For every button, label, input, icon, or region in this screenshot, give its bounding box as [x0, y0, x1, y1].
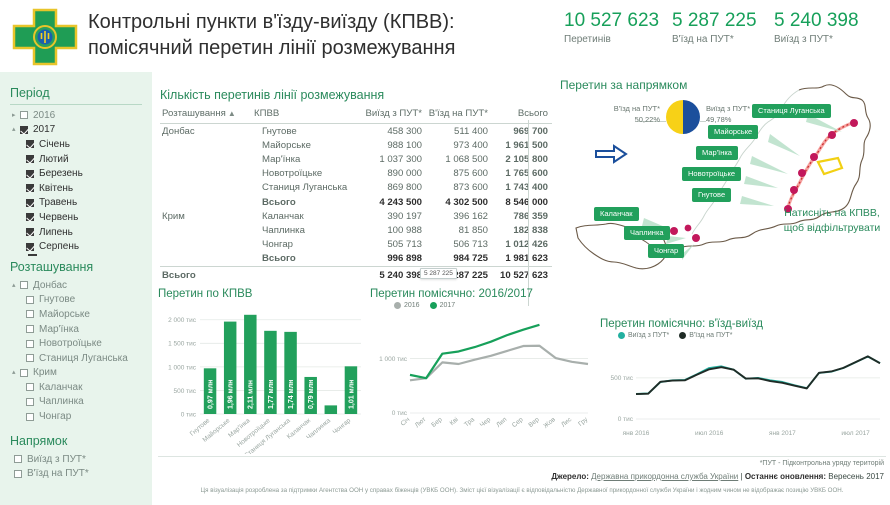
line-series-В'їзд на ПУТ*[interactable]	[636, 356, 880, 394]
table-row[interactable]: Чаплинка100 98881 850182 838	[160, 223, 552, 237]
filter-item-period-6[interactable]: Травень	[10, 196, 142, 211]
chart-title: Перетин по КПВВ	[158, 288, 363, 300]
expand-caret-icon[interactable]: ▸	[12, 112, 20, 119]
blue-arrow-icon	[594, 144, 628, 164]
table-grand-total-row: Всього5 240 3985 287 22510 527 623	[160, 266, 552, 282]
filter-item-label: Новотроїцьке	[39, 338, 102, 349]
filter-item-label: Гнутове	[39, 294, 75, 305]
cell-exit: 4 243 500	[360, 195, 426, 209]
checkbox[interactable]	[20, 126, 28, 134]
filter-item-period-7[interactable]: Червень	[10, 210, 142, 225]
cell-entry: 506 713	[426, 238, 492, 252]
dashboard-root: Контрольні пункти в'їзду-виїзду (КПВВ): …	[0, 0, 890, 505]
filter-item-location-7[interactable]: Каланчак	[10, 380, 142, 395]
table-title: Кількість перетинів лінії розмежування	[160, 88, 552, 102]
table-row[interactable]: Майорське988 100973 4001 961 500	[160, 138, 552, 152]
period-list-truncated-indicator	[28, 254, 37, 256]
filter-item-location-0[interactable]: ▴Донбас	[10, 278, 142, 293]
footer-disclaimer: Ця візуалізація розроблена за підтримки …	[160, 487, 884, 494]
checkbox[interactable]	[26, 325, 34, 333]
filter-item-label: Березень	[39, 168, 83, 179]
pie-label-entry: В'їзд на ПУТ* 50,22%	[572, 103, 660, 125]
bar-data-label: 1,77 млн	[268, 380, 275, 409]
checkbox[interactable]	[20, 369, 28, 377]
checkbox[interactable]	[20, 111, 28, 119]
filter-item-label: Чаплинка	[39, 396, 84, 407]
filter-item-label: 2017	[33, 124, 55, 135]
line1-x-tick: Кві	[448, 415, 460, 427]
bar-y-tick: 2 000 тис	[168, 317, 197, 324]
filter-item-period-3[interactable]: Лютий	[10, 152, 142, 167]
line1-x-tick: Бер	[430, 416, 444, 429]
cell-kpvv: Новотроїцьке	[252, 167, 360, 181]
legend-item-exit[interactable]: Виїзд з ПУТ*	[618, 332, 669, 339]
legend-item-2017[interactable]: 2017	[430, 302, 456, 309]
line-series-Виїзд з ПУТ*[interactable]	[636, 357, 880, 394]
checkbox[interactable]	[14, 470, 22, 478]
column-header-total[interactable]: Всього	[492, 106, 552, 124]
filter-heading-location: Розташування	[10, 260, 142, 275]
cell-total: 969 700	[492, 124, 552, 139]
bar-data-label: 1,74 млн	[288, 380, 295, 409]
legend-item-entry[interactable]: В'їзд на ПУТ*	[679, 332, 732, 339]
line-chart-canvas[interactable]: 0 тис1 000 тисСічЛютБерКвіТраЧерЛипСерВе…	[370, 309, 592, 449]
cell-total: 1 012 426	[492, 238, 552, 252]
chart-legend: 2016 2017	[394, 302, 592, 309]
legend-label: 2016	[404, 302, 420, 309]
expand-caret-icon[interactable]: ▴	[12, 369, 20, 376]
filter-item-label: Липень	[39, 227, 73, 238]
cell-exit: 458 300	[360, 124, 426, 139]
column-header-exit[interactable]: Виїзд з ПУТ*	[360, 106, 426, 124]
footer-source-line: Джерело: Державна прикордонна служба Укр…	[551, 472, 884, 481]
checkbox[interactable]	[26, 296, 34, 304]
line-series-2017[interactable]	[410, 325, 539, 378]
kpi-value: 10 527 623	[564, 10, 659, 32]
cell-total: 182 838	[492, 223, 552, 237]
bar[interactable]	[325, 405, 337, 414]
checkbox[interactable]	[14, 455, 22, 463]
table-row[interactable]: КримКаланчак390 197396 162786 359	[160, 209, 552, 223]
filter-item-label: Мар'їнка	[39, 324, 79, 335]
cell-kpvv: Станиця Луганська	[252, 181, 360, 195]
kpi-entry-to-gct: 5 287 225 В'їзд на ПУТ*	[672, 10, 757, 45]
line1-x-tick: Тра	[463, 416, 476, 429]
cell-exit: 100 988	[360, 223, 426, 237]
filter-item-label: Чонгар	[39, 411, 71, 422]
cell-location: Донбас	[160, 124, 252, 139]
cell-entry: 511 400	[426, 124, 492, 139]
cell-exit: 890 000	[360, 167, 426, 181]
bar-y-tick: 1 000 тис	[168, 364, 197, 371]
cell-entry: 973 400	[426, 138, 492, 152]
legend-label: 2017	[440, 302, 456, 309]
cell-location: Крим	[160, 209, 252, 223]
map-label-2[interactable]: Мар'їнка	[696, 146, 738, 160]
filter-list-period[interactable]: ▸2016▴2017СіченьЛютийБерезеньКвітеньТрав…	[10, 108, 142, 254]
checkbox[interactable]	[26, 213, 34, 221]
legend-item-2016[interactable]: 2016	[394, 302, 420, 309]
cell-entry: 984 725	[426, 252, 492, 267]
cell-kpvv: Гнутове	[252, 124, 360, 139]
cell-kpvv: Каланчак	[252, 209, 360, 223]
filter-item-location-6[interactable]: ▴Крим	[10, 366, 142, 381]
page-title: Контрольні пункти в'їзду-виїзду (КПВВ): …	[88, 9, 558, 61]
map-label-7[interactable]: Чонгар	[648, 244, 684, 258]
filter-list-direction[interactable]: Виїзд з ПУТ*В'їзд на ПУТ*	[10, 452, 142, 481]
cell-kpvv: Майорське	[252, 138, 360, 152]
filter-item-location-4[interactable]: Новотроїцьке	[10, 336, 142, 351]
filter-item-label: Травень	[39, 197, 77, 208]
line2-x-tick: июл 2016	[695, 430, 724, 437]
cell-exit: 5 240 398	[360, 266, 426, 282]
cell-location	[160, 195, 252, 209]
cell-exit: 869 800	[360, 181, 426, 195]
filter-item-period-5[interactable]: Квітень	[10, 181, 142, 196]
filter-item-location-2[interactable]: Майорське	[10, 307, 142, 322]
checkbox[interactable]	[26, 340, 34, 348]
table-row[interactable]: Всього996 898984 7251 981 623	[160, 252, 552, 267]
footer-separator: |	[741, 472, 743, 481]
filter-item-label: Лютий	[39, 154, 69, 165]
cell-location	[160, 152, 252, 166]
kpi-group: 10 527 623 Перетинів 5 287 225 В'їзд на …	[560, 10, 890, 62]
filter-list-location[interactable]: ▴ДонбасГнутовеМайорськеМар'їнкаНовотроїц…	[10, 278, 142, 424]
table-row[interactable]: Всього4 243 5004 302 5008 546 000	[160, 195, 552, 209]
filter-item-label: Червень	[39, 212, 78, 223]
kpi-value: 5 287 225	[672, 10, 757, 32]
state-border-guard-service-emblem-icon	[10, 8, 80, 66]
legend-label: В'їзд на ПУТ*	[689, 332, 732, 339]
cell-exit: 390 197	[360, 209, 426, 223]
bar-y-tick: 500 тис	[173, 388, 196, 395]
filter-item-label: Донбас	[33, 280, 67, 291]
map-label-0[interactable]: Станиця Луганська	[752, 104, 831, 118]
source-label: Джерело:	[551, 472, 589, 481]
value-tooltip: 5 287 225	[420, 268, 457, 279]
filter-item-period-1[interactable]: ▴2017	[10, 123, 142, 138]
cell-location: Всього	[160, 266, 252, 282]
map-hint-text: Натисніть на КПВВ, щоб відфільтрувати	[774, 206, 890, 236]
kpi-value: 5 240 398	[774, 10, 859, 32]
cell-location	[160, 167, 252, 181]
line1-x-tick: Лют	[414, 416, 428, 429]
footnote-put: *ПУТ - Підконтрольна уряду територій	[760, 460, 884, 467]
source-link[interactable]: Державна прикордонна служба України	[591, 472, 738, 481]
legend-swatch	[394, 302, 401, 309]
filter-item-label: Каланчак	[39, 382, 82, 393]
update-label: Останнє оновлення:	[745, 472, 826, 481]
line1-x-tick: Вер	[527, 416, 541, 429]
cell-location	[160, 223, 252, 237]
update-value: Вересень 2017	[828, 472, 884, 481]
table-row[interactable]: Станиця Луганська869 800873 6001 743 400	[160, 181, 552, 195]
cell-total: 1 765 600	[492, 167, 552, 181]
chart-legend: Виїзд з ПУТ* В'їзд на ПУТ*	[618, 332, 885, 339]
filter-item-label: Квітень	[39, 183, 73, 194]
checkbox[interactable]	[26, 398, 34, 406]
expand-caret-icon[interactable]: ▴	[12, 126, 20, 133]
cell-entry: 873 600	[426, 181, 492, 195]
checkbox[interactable]	[26, 413, 34, 421]
table-row[interactable]: Мар'їнка1 037 3001 068 5002 105 800	[160, 152, 552, 166]
map-label-3[interactable]: Новотроїцьке	[682, 167, 741, 181]
line1-x-tick: Лип	[495, 416, 509, 429]
line1-x-tick: Лис	[560, 416, 574, 429]
map-panel: Перетин за напрямком	[556, 78, 890, 278]
filter-item-location-5[interactable]: Станиця Луганська	[10, 351, 142, 366]
bar-y-tick: 1 500 тис	[168, 341, 197, 348]
map-label-6[interactable]: Чаплинка	[624, 226, 670, 240]
cell-entry: 81 850	[426, 223, 492, 237]
checkbox[interactable]	[26, 184, 34, 192]
checkbox[interactable]	[26, 155, 34, 163]
legend-swatch	[679, 332, 686, 339]
checkbox[interactable]	[26, 243, 34, 251]
filter-item-label: Крим	[33, 367, 57, 378]
line2-x-tick: янв 2016	[623, 430, 650, 437]
bar-data-label: 0,97 млн	[207, 380, 214, 409]
line2-x-tick: июл 2017	[841, 430, 870, 437]
filter-item-label: Виїзд з ПУТ*	[27, 454, 86, 465]
map-label-4[interactable]: Гнутове	[692, 188, 731, 202]
filter-sidebar: Період ▸2016▴2017СіченьЛютийБерезеньКвіт…	[0, 72, 152, 505]
legend-swatch	[618, 332, 625, 339]
cell-entry: 1 068 500	[426, 152, 492, 166]
checkbox[interactable]	[26, 310, 34, 318]
line2-y-tick: 0 тис	[618, 416, 634, 423]
filter-item-location-3[interactable]: Мар'їнка	[10, 322, 142, 337]
chart-monthly-2016-2017: Перетин помісячно: 2016/2017 2016 2017 0…	[370, 288, 592, 458]
filter-item-label: 2016	[33, 110, 55, 121]
line1-x-tick: Жов	[542, 416, 557, 430]
footer-divider	[158, 456, 886, 457]
bar-x-tick: Чонгар	[332, 417, 353, 436]
filter-item-label: Станиця Луганська	[39, 353, 128, 364]
kpi-label: Перетинів	[564, 34, 659, 45]
header: Контрольні пункти в'їзду-виїзду (КПВВ): …	[0, 0, 890, 72]
filter-item-location-8[interactable]: Чаплинка	[10, 395, 142, 410]
cell-exit: 1 037 300	[360, 152, 426, 166]
cell-location	[160, 238, 252, 252]
expand-caret-icon[interactable]: ▴	[12, 282, 20, 289]
crossings-table-panel: Кількість перетинів лінії розмежування Р…	[160, 88, 552, 282]
cell-location	[160, 138, 252, 152]
checkbox[interactable]	[26, 354, 34, 362]
cell-total: 1 961 500	[492, 138, 552, 152]
cell-total: 10 527 623	[492, 266, 552, 282]
line1-x-tick: Січ	[399, 415, 411, 427]
line-chart-canvas[interactable]: 0 тис500 тисянв 2016июл 2016янв 2017июл …	[600, 339, 885, 447]
line1-x-tick: Чер	[479, 416, 493, 429]
cell-total: 1 981 623	[492, 252, 552, 267]
filter-item-label: Січень	[39, 139, 70, 150]
cell-exit: 996 898	[360, 252, 426, 267]
bar-data-label: 1,01 млн	[348, 380, 355, 409]
filter-item-period-4[interactable]: Березень	[10, 166, 142, 181]
table-row[interactable]: ДонбасГнутове458 300511 400969 700	[160, 124, 552, 139]
column-header-entry[interactable]: В'їзд на ПУТ*	[426, 106, 492, 124]
filter-item-label: В'їзд на ПУТ*	[27, 468, 89, 479]
chart-monthly-direction: Перетин помісячно: в'їзд-виїзд Виїзд з П…	[600, 318, 885, 458]
chart-title: Перетин помісячно: 2016/2017	[370, 288, 592, 300]
filter-item-period-2[interactable]: Січень	[10, 137, 142, 152]
cell-exit: 505 713	[360, 238, 426, 252]
page-title-line-1: Контрольні пункти в'їзду-виїзду (КПВВ):	[88, 9, 558, 35]
cell-kpvv: Чонгар	[252, 238, 360, 252]
sort-ascending-icon: ▲	[228, 109, 236, 118]
filter-heading-direction: Напрямок	[10, 434, 142, 449]
filter-item-location-1[interactable]: Гнутове	[10, 293, 142, 308]
crossings-table: Розташування▲ КПВВ Виїзд з ПУТ* В'їзд на…	[160, 106, 552, 282]
filter-item-direction-0[interactable]: Виїзд з ПУТ*	[10, 452, 142, 467]
cell-entry: 4 302 500	[426, 195, 492, 209]
chart-crossings-by-kpvv: Перетин по КПВВ 0 тис500 тис1 000 тис1 5…	[158, 288, 363, 458]
table-row[interactable]: Чонгар505 713506 7131 012 426	[160, 238, 552, 252]
checkbox[interactable]	[26, 228, 34, 236]
chart-title: Перетин помісячно: в'їзд-виїзд	[600, 318, 885, 330]
line1-x-tick: Гру	[577, 416, 590, 428]
cell-exit: 988 100	[360, 138, 426, 152]
table-row[interactable]: Новотроїцьке890 000875 6001 765 600	[160, 167, 552, 181]
checkbox[interactable]	[26, 383, 34, 391]
cell-kpvv: Мар'їнка	[252, 152, 360, 166]
line1-x-tick: Сер	[511, 416, 525, 429]
bar-chart-canvas[interactable]: 0 тис500 тис1 000 тис1 500 тис2 000 тис0…	[158, 302, 363, 454]
cell-entry: 875 600	[426, 167, 492, 181]
cell-total: 2 105 800	[492, 152, 552, 166]
filter-item-label: Серпень	[39, 241, 79, 252]
line2-y-tick: 500 тис	[610, 375, 633, 382]
bar-data-label: 0,79 млн	[308, 380, 315, 409]
bar-y-tick: 0 тис	[181, 411, 197, 418]
kpi-label: В'їзд на ПУТ*	[672, 34, 757, 45]
checkbox[interactable]	[26, 199, 34, 207]
legend-swatch	[430, 302, 437, 309]
line1-y-tick: 1 000 тис	[379, 356, 408, 363]
column-header-kpvv[interactable]: КПВВ	[252, 106, 360, 124]
cell-kpvv: Всього	[252, 195, 360, 209]
cell-total: 8 546 000	[492, 195, 552, 209]
kpi-label: Виїзд з ПУТ*	[774, 34, 859, 45]
legend-label: Виїзд з ПУТ*	[628, 332, 669, 339]
line2-x-tick: янв 2017	[769, 430, 796, 437]
filter-item-period-0[interactable]: ▸2016	[10, 108, 142, 123]
bar-data-label: 2,11 млн	[248, 380, 255, 409]
pie-percent-entry: 50,22%	[572, 114, 660, 125]
pie-slices	[666, 100, 700, 134]
cell-location	[160, 181, 252, 195]
table-column-divider	[528, 120, 529, 306]
checkbox[interactable]	[20, 281, 28, 289]
checkbox[interactable]	[26, 170, 34, 178]
bar-data-label: 1,96 млн	[228, 380, 235, 409]
kpi-exit-from-gct: 5 240 398 Виїзд з ПУТ*	[774, 10, 859, 45]
table-header-row: Розташування▲ КПВВ Виїзд з ПУТ* В'їзд на…	[160, 106, 552, 124]
kpi-total-crossings: 10 527 623 Перетинів	[564, 10, 659, 45]
cell-kpvv: Всього	[252, 252, 360, 267]
filter-item-period-8[interactable]: Липень	[10, 225, 142, 240]
map-label-5[interactable]: Каланчак	[594, 207, 639, 221]
page-title-line-2: помісячний перетин лінії розмежування	[88, 35, 558, 61]
filter-item-location-9[interactable]: Чонгар	[10, 409, 142, 424]
cell-kpvv: Чаплинка	[252, 223, 360, 237]
cell-entry: 396 162	[426, 209, 492, 223]
cell-total: 1 743 400	[492, 181, 552, 195]
checkbox[interactable]	[26, 140, 34, 148]
filter-heading-period: Період	[10, 86, 142, 105]
filter-item-direction-1[interactable]: В'їзд на ПУТ*	[10, 466, 142, 481]
filter-item-label: Майорське	[39, 309, 90, 320]
map-label-1[interactable]: Майорське	[708, 125, 758, 139]
cell-kpvv	[252, 266, 360, 282]
cell-location	[160, 252, 252, 267]
filter-item-period-9[interactable]: Серпень	[10, 239, 142, 254]
column-header-location[interactable]: Розташування▲	[160, 106, 252, 124]
cell-total: 786 359	[492, 209, 552, 223]
